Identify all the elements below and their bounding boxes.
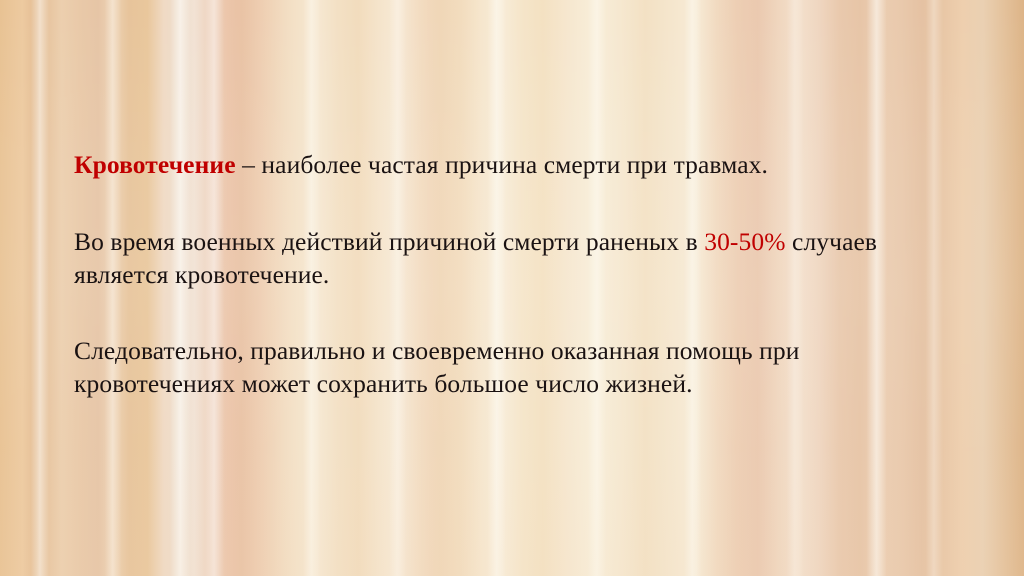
paragraph-statistic: Во время военных действий причиной смерт…	[74, 225, 934, 291]
presentation-slide: Кровотечение – наиболее частая причина с…	[0, 0, 1024, 576]
paragraph-statistic-lead: Во время военных действий причиной смерт…	[74, 227, 704, 256]
paragraph-conclusion: Следовательно, правильно и своевременно …	[74, 334, 934, 400]
paragraph-conclusion-text: Следовательно, правильно и своевременно …	[74, 336, 800, 398]
slide-text-body: Кровотечение – наиболее частая причина с…	[74, 148, 934, 400]
lead-term-bleeding: Кровотечение	[74, 150, 236, 179]
statistic-percentage: 30-50%	[704, 227, 785, 256]
paragraph-definition: Кровотечение – наиболее частая причина с…	[74, 148, 934, 181]
paragraph-definition-text: – наиболее частая причина смерти при тра…	[236, 150, 768, 179]
